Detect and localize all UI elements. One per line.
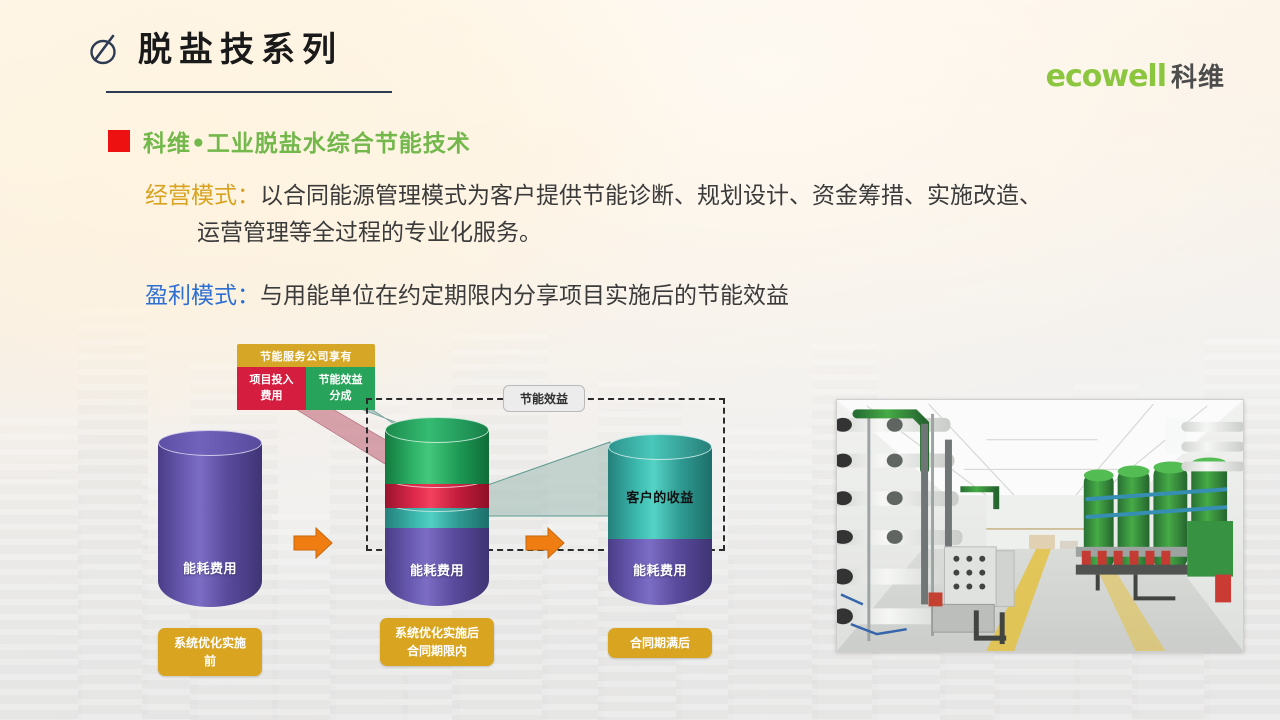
- cylinder-before-optimization: 能耗费用: [158, 430, 262, 620]
- facility-photo: [836, 399, 1244, 652]
- legend-item-benefit-share: 节能效益 分成: [306, 367, 375, 410]
- caption-after-contract: 合同期满后: [608, 628, 712, 658]
- paragraph-separator: ：: [237, 183, 260, 209]
- caption-line-1: 系统优化实施前: [174, 636, 246, 668]
- page-title: 脱盐技系列: [138, 33, 343, 67]
- cylinder-segment-label: 能耗费用: [385, 560, 489, 579]
- arrow-stage-2-to-3: [524, 526, 566, 560]
- cylinder-during-contract: 能耗费用: [385, 408, 489, 620]
- caption-line-1: 合同期满后: [630, 636, 690, 650]
- square-bullet-icon: [108, 130, 130, 152]
- energy-saving-diagram: 节能服务公司享有 项目投入 费用 节能效益 分成 节能效益 能耗费用: [0, 330, 830, 690]
- cylinder-segment-label: 客户的收益: [608, 487, 712, 506]
- legend-title: 节能服务公司享有: [237, 344, 375, 367]
- paragraph-profit-model: 盈利模式：与用能单位在约定期限内分享项目实施后的节能效益: [145, 278, 1220, 315]
- brand-logo: ecowell 科维: [1046, 62, 1225, 92]
- caption-before-optimization: 系统优化实施前: [158, 628, 262, 676]
- cylinder-segment-label: 能耗费用: [608, 560, 712, 579]
- legend-cells: 项目投入 费用 节能效益 分成: [237, 367, 375, 410]
- section-heading: 科维•工业脱盐水综合节能技术: [143, 124, 471, 158]
- caption-during-contract: 系统优化实施后 合同期限内: [380, 618, 494, 666]
- legend-item-line-1: 节能效益: [308, 372, 373, 388]
- paragraph-keyword: 盈利模式: [145, 283, 237, 309]
- page-title-row: 脱盐技系列: [88, 33, 343, 67]
- paragraph-business-model: 经营模式：以合同能源管理模式为客户提供节能诊断、规划设计、资金筹措、实施改造、 …: [145, 178, 1220, 253]
- arrow-stage-1-to-2: [292, 526, 334, 560]
- legend-item-line-2: 分成: [308, 388, 373, 404]
- legend-item-line-1: 项目投入: [239, 372, 304, 388]
- paragraph-separator: ：: [237, 283, 260, 309]
- paragraph-line-2: 运营管理等全过程的专业化服务。: [145, 215, 1220, 252]
- logo-text-cn: 科维: [1171, 65, 1225, 91]
- cylinder-segment-label: 能耗费用: [158, 558, 262, 577]
- caption-line-2: 合同期限内: [392, 642, 482, 660]
- legend-item-project-cost: 项目投入 费用: [237, 367, 306, 410]
- paragraph-keyword: 经营模式: [145, 183, 237, 209]
- section-heading-row: 科维•工业脱盐水综合节能技术: [108, 124, 471, 158]
- title-underline: [106, 91, 392, 93]
- paragraph-line-1: 以合同能源管理模式为客户提供节能诊断、规划设计、资金筹措、实施改造、: [260, 183, 1042, 209]
- logo-text-en: ecowell: [1046, 62, 1166, 92]
- slide-canvas: 脱盐技系列 ecowell 科维 科维•工业脱盐水综合节能技术 经营模式：以合同…: [0, 0, 1280, 720]
- cylinder-after-contract: 客户的收益 能耗费用: [608, 425, 712, 620]
- legend-item-line-2: 费用: [239, 388, 304, 404]
- energy-benefit-chip: 节能效益: [503, 385, 585, 412]
- legend-box: 节能服务公司享有 项目投入 费用 节能效益 分成: [237, 344, 375, 410]
- slashed-circle-icon: [88, 33, 120, 67]
- caption-line-1: 系统优化实施后: [392, 624, 482, 642]
- paragraph-line-1: 与用能单位在约定期限内分享项目实施后的节能效益: [260, 283, 789, 309]
